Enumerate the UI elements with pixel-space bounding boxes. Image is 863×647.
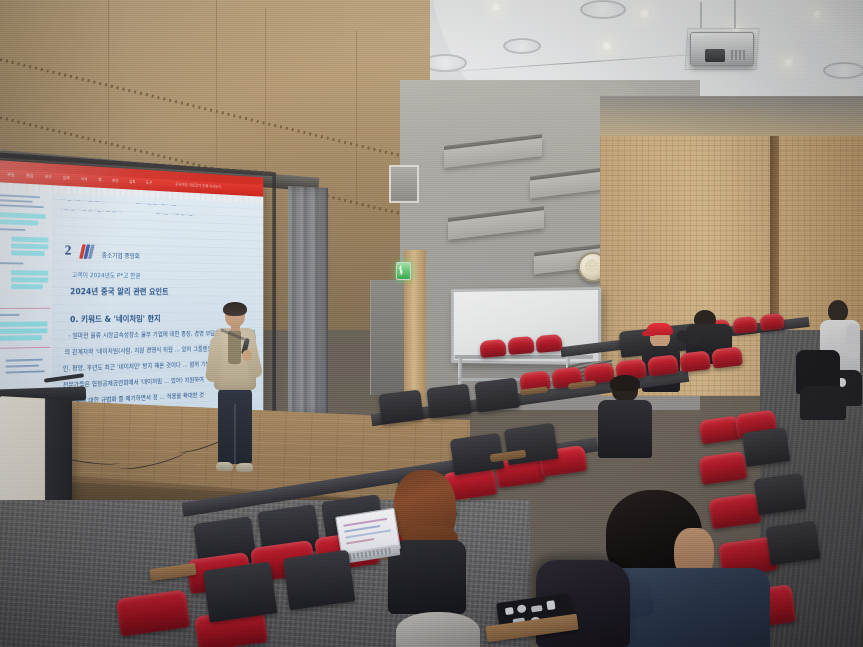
- wood-wall-seam: [108, 0, 109, 180]
- seat-back: [378, 390, 423, 425]
- ceiling-downlight: [490, 3, 502, 11]
- seat-back: [426, 384, 471, 419]
- projector-mount-rod: [734, 0, 736, 28]
- audience-member-grey-hoodie: [594, 378, 660, 474]
- exit-sign-icon: [396, 262, 411, 280]
- presenter: [206, 304, 264, 480]
- ceiling-vent-ring: [823, 62, 863, 79]
- projector-mount-rod: [700, 2, 702, 28]
- lecture-hall-photo: 파일 편집 보기 입력 서식 쪽 보안 검토 도구 문서마당 자료찾기 인쇄 미…: [0, 0, 863, 647]
- person-lap: [800, 386, 846, 420]
- wall-vent-panel: [389, 165, 419, 203]
- seat-cushion: [507, 336, 534, 355]
- projector-vent: [729, 50, 745, 60]
- seat-cushion: [711, 346, 743, 369]
- ceiling-downlight: [782, 58, 795, 67]
- presenter-shoe-right: [236, 463, 253, 472]
- person-head: [828, 300, 848, 322]
- ceiling-downlight: [601, 42, 613, 50]
- side-door: [370, 280, 407, 395]
- projector-body: [690, 32, 754, 66]
- presenter-hair: [223, 302, 247, 316]
- presenter-hand: [242, 350, 252, 361]
- audience-member-light-cap: [396, 612, 480, 647]
- person-arm: [846, 324, 860, 358]
- seat-cushion: [647, 354, 679, 377]
- seat-cushion: [759, 313, 785, 331]
- projector-lens-icon: [705, 49, 725, 62]
- clock-face: [585, 259, 599, 273]
- audience-member-black-coat: [796, 336, 842, 416]
- ceiling-projector: [690, 24, 752, 64]
- light-cap: [396, 612, 480, 647]
- ceiling-downlight: [811, 10, 823, 18]
- stage-curtain: [288, 186, 328, 416]
- person-hair: [610, 375, 640, 391]
- seat-back: [203, 562, 278, 623]
- cap-brim: [642, 331, 656, 336]
- wood-wall-top-trim: [600, 96, 863, 136]
- seat-cushion: [479, 339, 506, 358]
- presenter-leg-seam: [234, 404, 236, 464]
- presenter-shoe-left: [216, 462, 233, 471]
- ceiling-downlight: [638, 9, 651, 18]
- seat-back: [283, 550, 356, 611]
- seat-back: [474, 378, 519, 413]
- person-torso: [598, 400, 652, 458]
- seat-back: [742, 427, 790, 467]
- wood-wall-seam: [356, 30, 357, 210]
- ceiling-vent-ring: [503, 38, 541, 54]
- seat-cushion: [679, 350, 711, 373]
- seat-cushion: [535, 334, 562, 353]
- ceiling-vent-ring: [580, 0, 626, 19]
- running-man-icon: [399, 265, 403, 276]
